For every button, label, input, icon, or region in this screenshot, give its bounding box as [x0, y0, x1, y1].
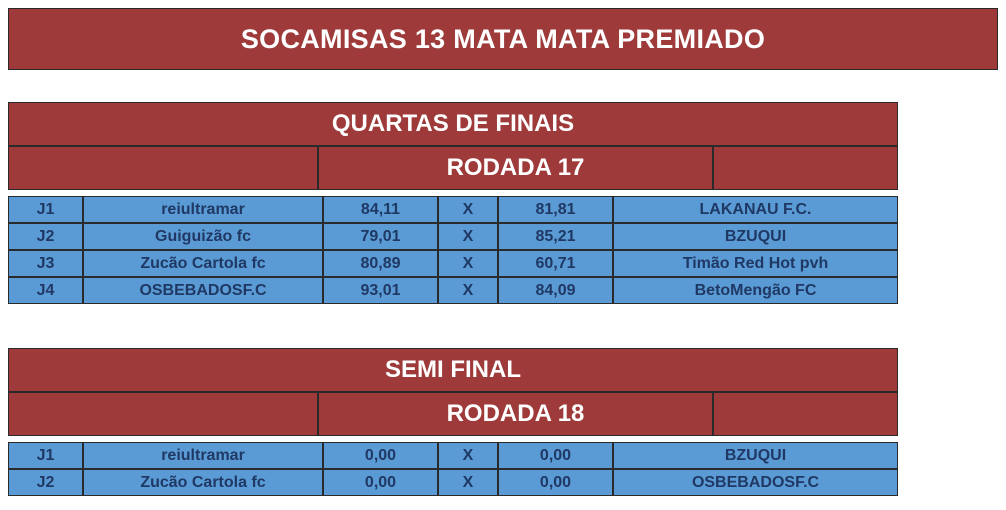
home-score: 79,01 [323, 223, 438, 250]
away-score: 85,21 [498, 223, 613, 250]
table-row[interactable]: J1 reiultramar 0,00 X 0,00 BZUQUI [8, 442, 898, 469]
section-quartas-de-finais: QUARTAS DE FINAIS RODADA 17 J1 reiultram… [8, 102, 898, 304]
page-title-banner: SOCAMISAS 13 MATA MATA PREMIADO [8, 8, 998, 70]
match-slot: J1 [8, 442, 83, 469]
section-semi-final: SEMI FINAL RODADA 18 J1 reiultramar 0,00… [8, 348, 898, 496]
match-slot: J3 [8, 250, 83, 277]
home-team: OSBEBADOSF.C [83, 277, 323, 304]
section-header-semi: SEMI FINAL [8, 348, 898, 392]
table-row[interactable]: J2 Guiguizão fc 79,01 X 85,21 BZUQUI [8, 223, 898, 250]
match-slot: J2 [8, 469, 83, 496]
away-score: 84,09 [498, 277, 613, 304]
away-team: BetoMengão FC [613, 277, 898, 304]
round-right-blank-quartas [713, 146, 898, 190]
home-score: 84,11 [323, 196, 438, 223]
away-team: LAKANAU F.C. [613, 196, 898, 223]
section-header-quartas: QUARTAS DE FINAIS [8, 102, 898, 146]
versus-separator: X [438, 250, 498, 277]
table-row[interactable]: J4 OSBEBADOSF.C 93,01 X 84,09 BetoMengão… [8, 277, 898, 304]
home-team: reiultramar [83, 442, 323, 469]
round-row-semi: RODADA 18 [8, 392, 898, 436]
section-title-quartas: QUARTAS DE FINAIS [332, 110, 574, 138]
home-score: 0,00 [323, 442, 438, 469]
away-team: Timão Red Hot pvh [613, 250, 898, 277]
versus-separator: X [438, 442, 498, 469]
away-score: 60,71 [498, 250, 613, 277]
section-title-semi: SEMI FINAL [385, 356, 521, 384]
match-slot: J4 [8, 277, 83, 304]
away-team: OSBEBADOSF.C [613, 469, 898, 496]
away-score: 0,00 [498, 442, 613, 469]
round-left-blank-quartas [8, 146, 318, 190]
home-team: reiultramar [83, 196, 323, 223]
versus-separator: X [438, 277, 498, 304]
table-row[interactable]: J3 Zucão Cartola fc 80,89 X 60,71 Timão … [8, 250, 898, 277]
round-left-blank-semi [8, 392, 318, 436]
match-list-semi: J1 reiultramar 0,00 X 0,00 BZUQUI J2 Zuc… [8, 442, 898, 496]
round-label-cell-semi: RODADA 18 [318, 392, 713, 436]
home-team: Zucão Cartola fc [83, 250, 323, 277]
page-title: SOCAMISAS 13 MATA MATA PREMIADO [241, 24, 765, 55]
versus-separator: X [438, 196, 498, 223]
away-score: 81,81 [498, 196, 613, 223]
spreadsheet-page: SOCAMISAS 13 MATA MATA PREMIADO QUARTAS … [0, 0, 1006, 510]
versus-separator: X [438, 223, 498, 250]
round-row-quartas: RODADA 17 [8, 146, 898, 190]
home-team: Guiguizão fc [83, 223, 323, 250]
round-label-quartas: RODADA 17 [447, 154, 585, 182]
match-slot: J2 [8, 223, 83, 250]
away-score: 0,00 [498, 469, 613, 496]
away-team: BZUQUI [613, 442, 898, 469]
versus-separator: X [438, 469, 498, 496]
home-team: Zucão Cartola fc [83, 469, 323, 496]
match-list-quartas: J1 reiultramar 84,11 X 81,81 LAKANAU F.C… [8, 196, 898, 304]
home-score: 0,00 [323, 469, 438, 496]
round-right-blank-semi [713, 392, 898, 436]
home-score: 80,89 [323, 250, 438, 277]
home-score: 93,01 [323, 277, 438, 304]
table-row[interactable]: J1 reiultramar 84,11 X 81,81 LAKANAU F.C… [8, 196, 898, 223]
away-team: BZUQUI [613, 223, 898, 250]
table-row[interactable]: J2 Zucão Cartola fc 0,00 X 0,00 OSBEBADO… [8, 469, 898, 496]
round-label-cell-quartas: RODADA 17 [318, 146, 713, 190]
match-slot: J1 [8, 196, 83, 223]
round-label-semi: RODADA 18 [447, 400, 585, 428]
